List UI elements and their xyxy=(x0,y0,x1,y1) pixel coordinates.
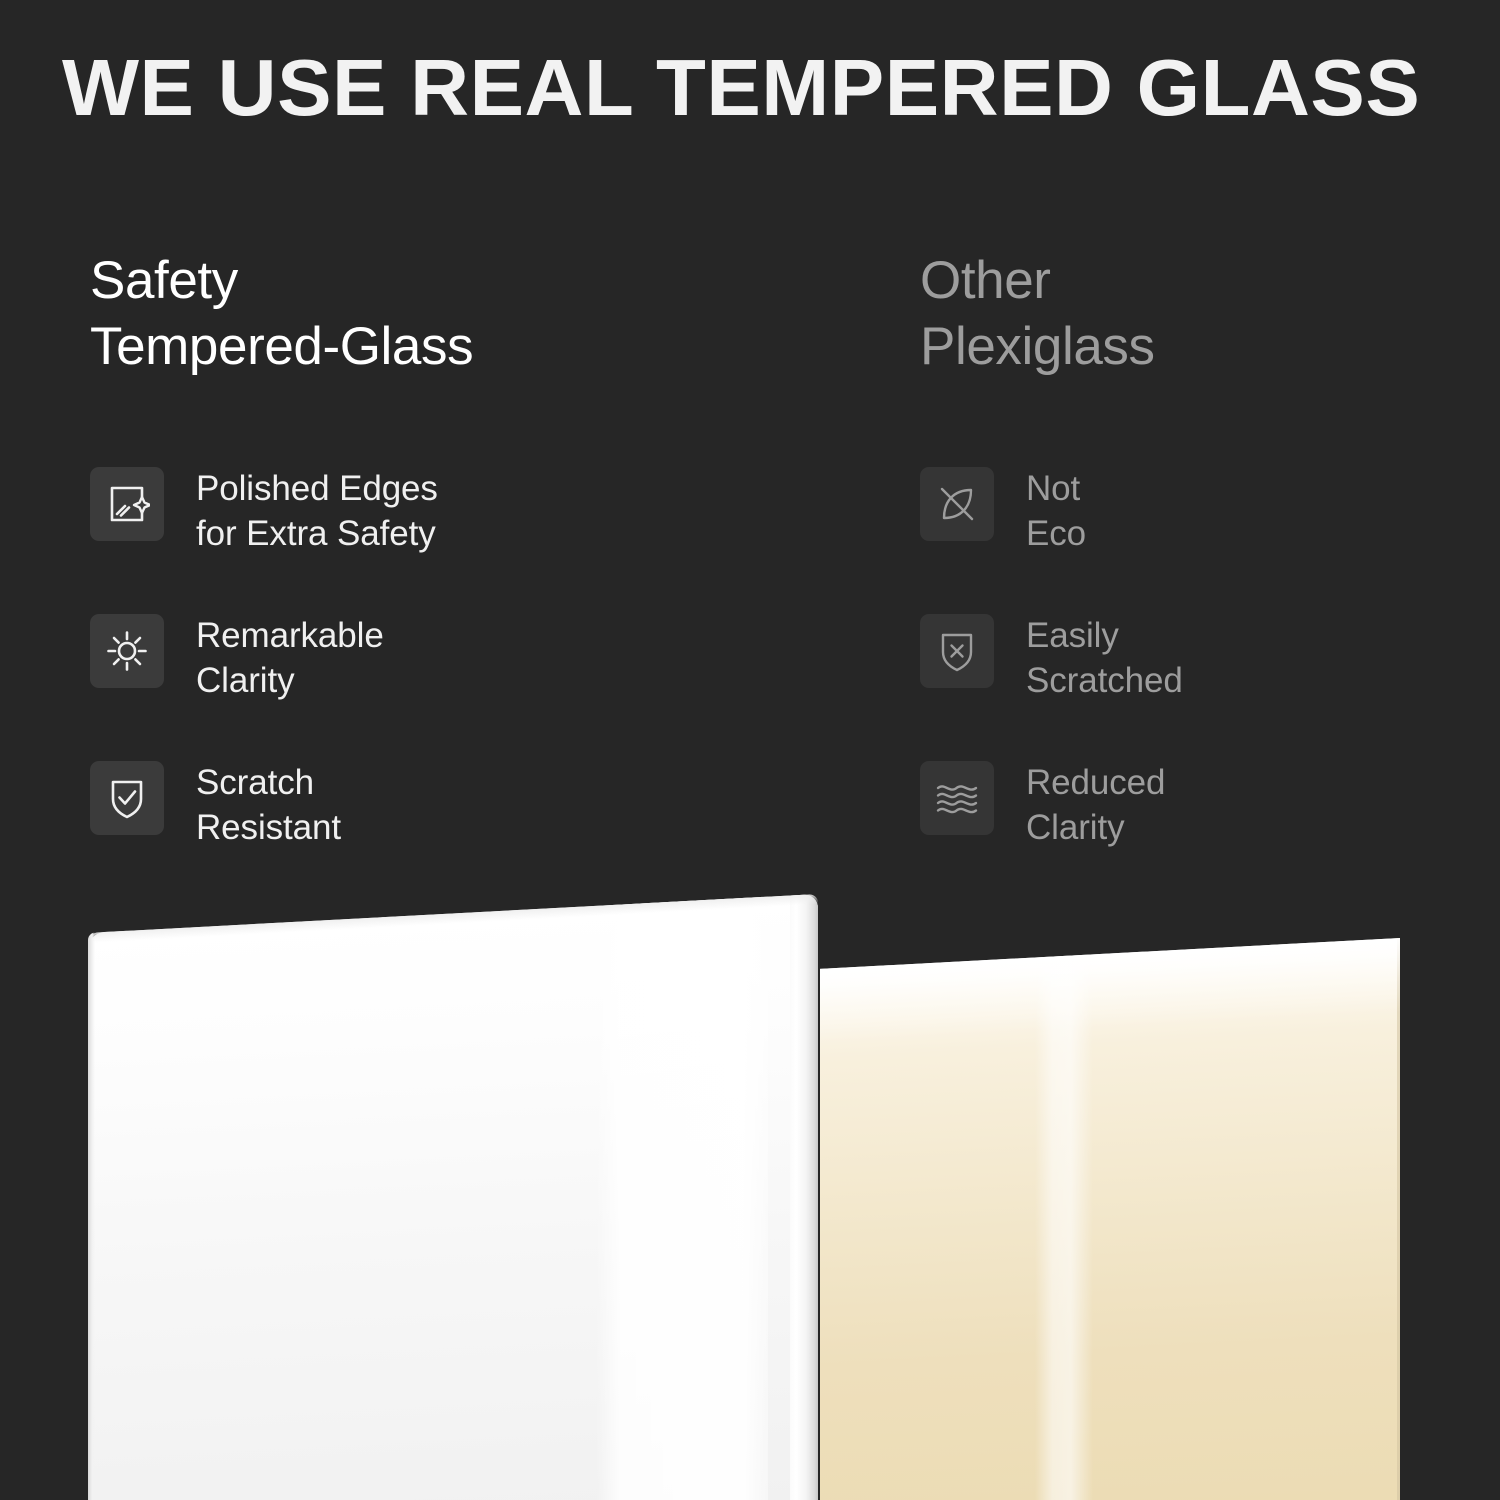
feature-label: Not Eco xyxy=(1026,465,1086,556)
feature-row: Easily Scratched xyxy=(920,612,1480,759)
feature-label: Scratch Resistant xyxy=(196,759,341,850)
plexiglass-top-highlight xyxy=(820,938,1400,1043)
feature-row: Polished Edges for Extra Safety xyxy=(90,465,850,612)
column-plexiglass: Other Plexiglass Not Eco xyxy=(920,248,1480,380)
leaf-slashed-icon xyxy=(920,467,994,541)
tempered-glass-panel xyxy=(88,894,818,1500)
column-tempered-glass: Safety Tempered-Glass Polished Edges for… xyxy=(90,248,850,380)
column-heading-plexiglass: Other Plexiglass xyxy=(920,248,1480,380)
glass-polished-bevel-edge xyxy=(790,894,818,1500)
plexiglass-panel xyxy=(820,938,1400,1500)
column-heading-tempered-glass: Safety Tempered-Glass xyxy=(90,248,850,380)
feature-row: Remarkable Clarity xyxy=(90,612,850,759)
feature-label: Easily Scratched xyxy=(1026,612,1183,703)
feature-label: Remarkable Clarity xyxy=(196,612,384,703)
glass-surface-reflection xyxy=(596,897,768,1500)
polished-edge-sparkle-icon xyxy=(90,467,164,541)
feature-list-plexiglass: Not Eco Easily Scratched xyxy=(920,465,1480,906)
shield-check-icon xyxy=(90,761,164,835)
sun-brightness-icon xyxy=(90,614,164,688)
product-photo xyxy=(0,860,1500,1500)
comparison-infographic: WE USE REAL TEMPERED GLASS Safety Temper… xyxy=(0,0,1500,1500)
page-title: WE USE REAL TEMPERED GLASS xyxy=(62,44,1480,132)
plexiglass-edge-reflection xyxy=(1035,954,1093,1500)
feature-row: Not Eco xyxy=(920,465,1480,612)
feature-list-tempered-glass: Polished Edges for Extra Safety xyxy=(90,465,850,906)
feature-label: Polished Edges for Extra Safety xyxy=(196,465,438,556)
feature-label: Reduced Clarity xyxy=(1026,759,1165,850)
shield-x-icon xyxy=(920,614,994,688)
wavy-lines-icon xyxy=(920,761,994,835)
glass-left-edge xyxy=(88,933,95,1500)
